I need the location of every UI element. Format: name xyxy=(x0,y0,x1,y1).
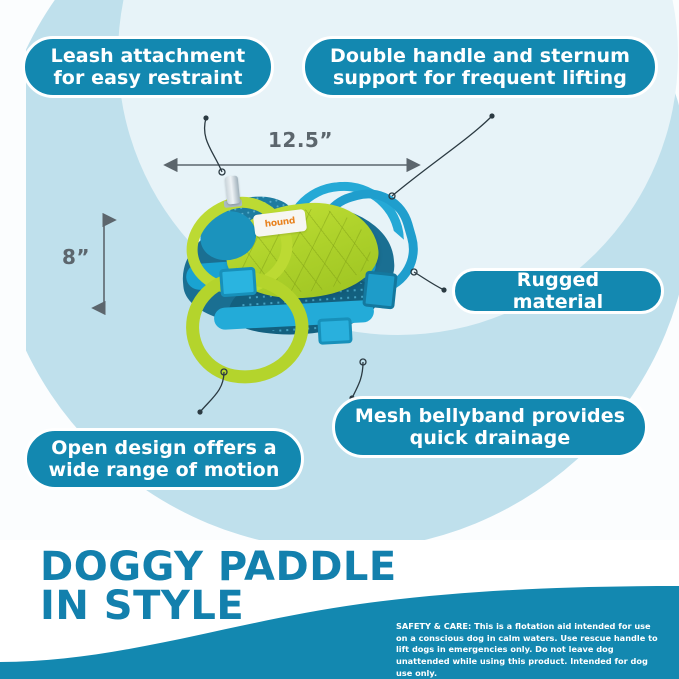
headline: DOGGY PADDLE IN STYLE xyxy=(40,548,460,626)
background-left-gutter xyxy=(0,0,26,560)
safety-care-text: SAFETY & CARE: This is a flotation aid i… xyxy=(396,621,658,679)
product-buckle-bottom xyxy=(317,317,352,345)
callout-leash-attachment[interactable]: Leash attachment for easy restraint xyxy=(22,36,274,98)
safety-heading: SAFETY & CARE: xyxy=(396,621,471,631)
callout-double-handle[interactable]: Double handle and sternum support for fr… xyxy=(302,36,658,98)
callout-mesh-text: Mesh bellyband provides quick drainage xyxy=(355,405,625,449)
callout-leash-text: Leash attachment for easy restraint xyxy=(51,45,246,89)
callout-handle-text: Double handle and sternum support for fr… xyxy=(330,45,630,89)
product-buckle-right xyxy=(362,270,398,309)
callout-open-design[interactable]: Open design offers a wide range of motio… xyxy=(24,428,304,490)
infographic-canvas: hound xyxy=(0,0,679,679)
product-image: hound xyxy=(168,176,408,366)
callout-open-text: Open design offers a wide range of motio… xyxy=(49,437,280,481)
callout-mesh-bellyband[interactable]: Mesh bellyband provides quick drainage xyxy=(332,396,648,458)
product-brand-text: hound xyxy=(264,216,295,230)
headline-line-1: DOGGY PADDLE xyxy=(40,548,460,587)
callout-rugged-material[interactable]: Rugged material xyxy=(452,268,664,314)
dimension-width-label: 12.5” xyxy=(268,128,333,152)
product-buckle-left xyxy=(219,267,257,297)
dimension-height-label: 8” xyxy=(62,245,90,269)
callout-rugged-text: Rugged material xyxy=(471,269,645,313)
product-leash-clip xyxy=(225,175,241,204)
